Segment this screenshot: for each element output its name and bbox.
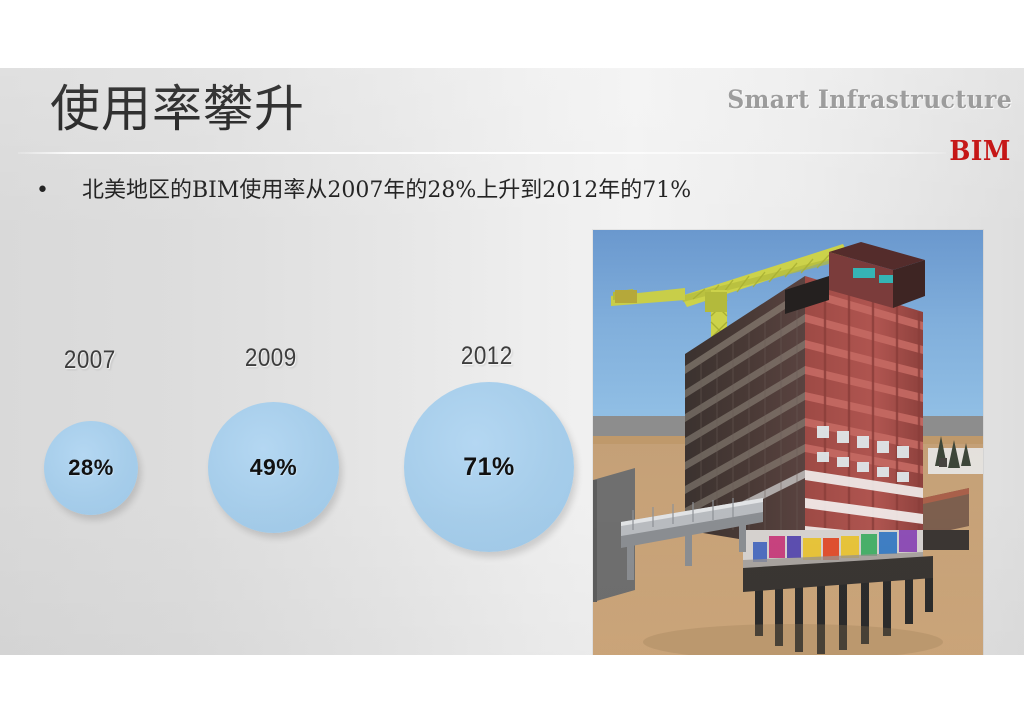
chart-value-label-2012: 71% xyxy=(463,453,515,482)
chart-value-label-2009: 49% xyxy=(250,454,298,481)
usage-rate-chart: 2007 2009 2012 28% 49% 71% xyxy=(0,68,600,655)
brand-name: Smart Infrastructure xyxy=(727,85,1012,114)
chart-category-label-2007: 2007 xyxy=(64,346,116,375)
chart-category-label-2012: 2012 xyxy=(461,342,513,371)
bim-rendering-svg xyxy=(593,230,983,655)
brand-subtitle: BIM xyxy=(950,136,1011,167)
chart-bubble-2007: 28% xyxy=(44,421,138,515)
bim-building-rendering-image xyxy=(593,230,983,655)
chart-value-label-2007: 28% xyxy=(68,455,114,481)
chart-bubble-2009: 49% xyxy=(208,402,339,533)
chart-category-label-2009: 2009 xyxy=(245,344,297,373)
slide-canvas: 使用率攀升 Smart Infrastructure BIM • 北美地区的BI… xyxy=(0,68,1024,655)
chart-bubble-2012: 71% xyxy=(404,382,574,552)
